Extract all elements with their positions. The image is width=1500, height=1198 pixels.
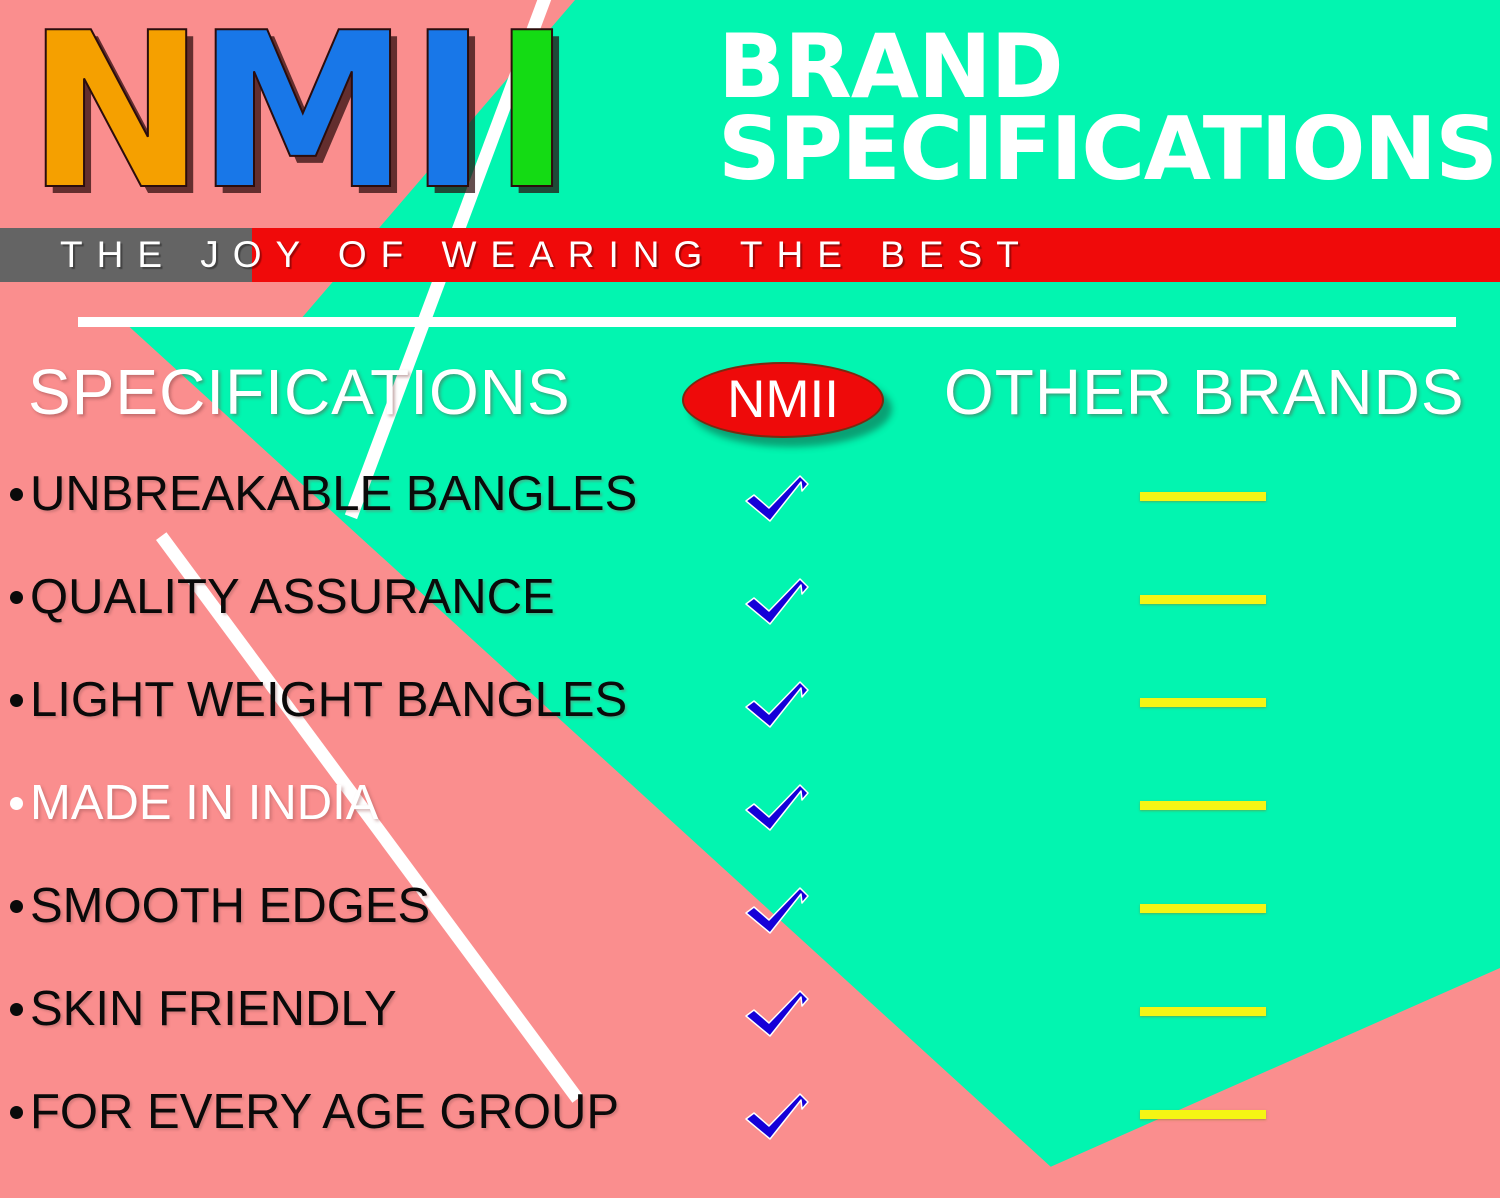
bullet-icon	[10, 1003, 23, 1016]
logo-letter-n: N	[26, 10, 200, 214]
title-line-specifications: SPECIFICATIONS	[718, 109, 1496, 191]
check-icon	[744, 474, 810, 526]
bullet-icon	[10, 1106, 23, 1119]
brand-specifications-poster: N M I I BRAND SPECIFICATIONS THE JOY OF …	[0, 0, 1500, 1198]
table-row: LIGHT WEIGHT BANGLES	[0, 658, 1500, 761]
table-row: SKIN FRIENDLY	[0, 967, 1500, 1070]
tagline-bar: THE JOY OF WEARING THE BEST	[0, 228, 1500, 282]
spec-label-text: MADE IN INDIA	[30, 776, 378, 830]
spec-label: UNBREAKABLE BANGLES	[10, 466, 637, 522]
spec-label: MADE IN INDIA	[10, 775, 378, 831]
dash-icon	[1140, 492, 1266, 501]
bullet-icon	[10, 488, 23, 501]
nmii-badge: NMII	[682, 362, 884, 438]
dash-icon	[1140, 595, 1266, 604]
table-row: QUALITY ASSURANCE	[0, 555, 1500, 658]
spec-label-text: FOR EVERY AGE GROUP	[30, 1085, 619, 1139]
check-icon	[744, 783, 810, 835]
spec-label-text: SMOOTH EDGES	[30, 879, 430, 933]
table-row: UNBREAKABLE BANGLES	[0, 452, 1500, 555]
logo-letter-i-first: I	[408, 10, 482, 214]
spec-label-text: UNBREAKABLE BANGLES	[30, 467, 637, 521]
comparison-table: UNBREAKABLE BANGLESQUALITY ASSURANCELIGH…	[0, 452, 1500, 1173]
table-row: FOR EVERY AGE GROUP	[0, 1070, 1500, 1173]
table-row: MADE IN INDIA	[0, 761, 1500, 864]
nmii-badge-label: NMII	[727, 373, 839, 426]
nmii-logo: N M I I	[26, 10, 566, 220]
check-icon	[744, 1092, 810, 1144]
poster-title: BRAND SPECIFICATIONS	[718, 26, 1496, 190]
bullet-icon	[10, 900, 23, 913]
logo-letter-m: M	[196, 10, 404, 214]
dash-icon	[1140, 1110, 1266, 1119]
dash-icon	[1140, 698, 1266, 707]
bullet-icon	[10, 694, 23, 707]
check-icon	[744, 989, 810, 1041]
bullet-icon	[10, 797, 23, 810]
dash-icon	[1140, 801, 1266, 810]
spec-label: SKIN FRIENDLY	[10, 981, 397, 1037]
spec-label: LIGHT WEIGHT BANGLES	[10, 672, 627, 728]
check-icon	[744, 886, 810, 938]
check-icon	[744, 680, 810, 732]
check-icon	[744, 577, 810, 629]
spec-label-text: QUALITY ASSURANCE	[30, 570, 555, 624]
column-header-specifications: SPECIFICATIONS	[28, 355, 571, 429]
dash-icon	[1140, 1007, 1266, 1016]
spec-label-text: SKIN FRIENDLY	[30, 982, 397, 1036]
spec-label: QUALITY ASSURANCE	[10, 569, 555, 625]
bullet-icon	[10, 591, 23, 604]
logo-letter-i-second: I	[492, 10, 566, 214]
dash-icon	[1140, 904, 1266, 913]
spec-label: FOR EVERY AGE GROUP	[10, 1084, 619, 1140]
spec-label: SMOOTH EDGES	[10, 878, 430, 934]
tagline-text: THE JOY OF WEARING THE BEST	[0, 228, 1500, 282]
column-header-other-brands: OTHER BRANDS	[944, 355, 1465, 429]
spec-label-text: LIGHT WEIGHT BANGLES	[30, 673, 627, 727]
table-row: SMOOTH EDGES	[0, 864, 1500, 967]
header-divider	[78, 317, 1456, 327]
